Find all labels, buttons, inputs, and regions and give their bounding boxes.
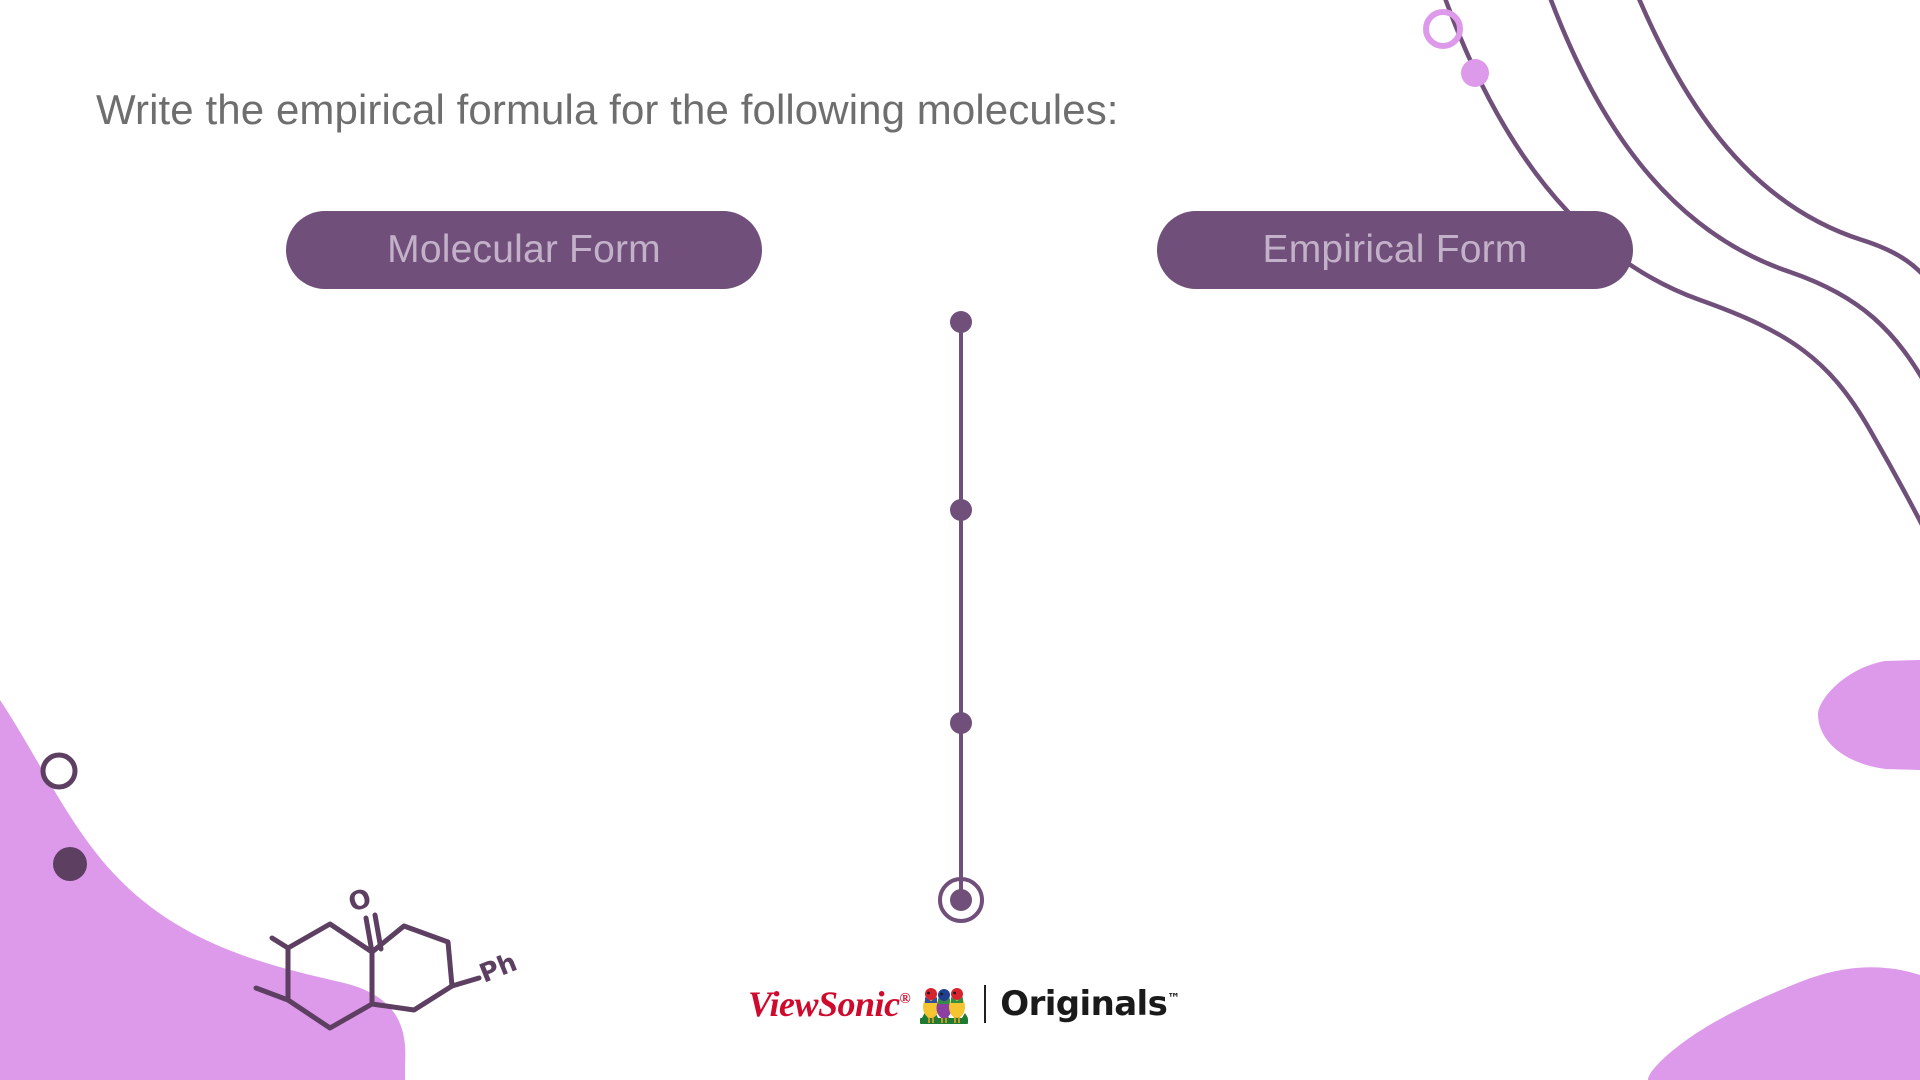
- viewsonic-wordmark: ViewSonic®: [748, 986, 910, 1022]
- answer-slot-molecular-3[interactable]: [286, 760, 762, 878]
- answer-slot-molecular-2[interactable]: [286, 548, 762, 666]
- answer-slot-empirical-3[interactable]: [1157, 760, 1633, 878]
- answer-slot-molecular-1[interactable]: [286, 360, 762, 478]
- originals-wordmark-text: Originals: [1000, 984, 1167, 1024]
- slide-canvas: O Ph Write the empirical formula for the…: [0, 0, 1920, 1080]
- originals-trademark-mark: ™: [1167, 992, 1179, 1007]
- viewsonic-wordmark-text: ViewSonic: [748, 984, 900, 1024]
- timeline-node-1[interactable]: [950, 311, 972, 333]
- logo-divider: [984, 985, 986, 1023]
- timeline-node-2[interactable]: [950, 499, 972, 521]
- center-timeline-divider: [0, 0, 1920, 1080]
- viewsonic-registered-mark: ®: [900, 991, 911, 1007]
- answer-slot-empirical-2[interactable]: [1157, 548, 1633, 666]
- answer-slot-empirical-1[interactable]: [1157, 360, 1633, 478]
- timeline-node-3[interactable]: [950, 712, 972, 734]
- footer-brand-logo: ViewSonic® Originals™: [748, 982, 1180, 1026]
- timeline-node-4-core[interactable]: [950, 889, 972, 911]
- gouldian-finches-icon: [916, 983, 972, 1025]
- originals-wordmark: Originals™: [1000, 987, 1179, 1021]
